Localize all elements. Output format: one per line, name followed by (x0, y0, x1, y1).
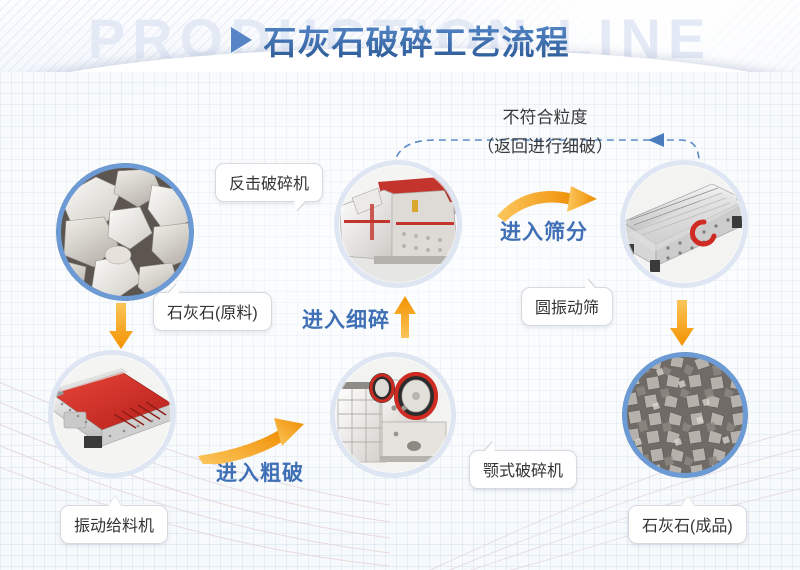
step-to-fine-label: 进入细碎 (302, 304, 390, 334)
callout-tail (168, 284, 179, 294)
jaw-crusher-circle (330, 352, 456, 478)
raw-material-ring (56, 163, 194, 301)
impact-crusher-ring (334, 160, 462, 288)
finished-product-circle (622, 352, 748, 478)
label-vibrating-screen[interactable]: 圆振动筛 (521, 287, 613, 326)
label-jaw-crusher[interactable]: 颚式破碎机 (469, 450, 577, 489)
vibrating-feeder-ring (48, 350, 176, 478)
node-vibrating-feeder[interactable] (48, 350, 176, 478)
node-raw-material[interactable] (56, 163, 194, 301)
node-impact-crusher[interactable] (334, 160, 462, 288)
label-raw-material[interactable]: 石灰石(原料) (153, 292, 272, 331)
label-vibrating-feeder[interactable]: 振动给料机 (60, 505, 168, 544)
label-text: 颚式破碎机 (483, 463, 563, 480)
label-text: 石灰石(成品) (642, 518, 733, 535)
callout-tail (585, 279, 596, 289)
vibrating-screen-circle (620, 160, 748, 288)
node-jaw-crusher[interactable] (330, 352, 456, 478)
callout-tail (108, 496, 122, 507)
arrow-curved-to-coarse (196, 418, 316, 464)
impact-crusher-circle (334, 160, 462, 288)
node-vibrating-screen[interactable] (620, 160, 748, 288)
label-text: 石灰石(原料) (167, 305, 258, 322)
return-label-line2: （返回进行细破） (430, 132, 660, 157)
return-label-line1: 不符合粒度 (430, 103, 660, 128)
label-text: 振动给料机 (74, 518, 154, 535)
play-triangle-icon (231, 27, 252, 53)
arrow-curved-to-screening (495, 186, 605, 228)
page-title-bar: 石灰石破碎工艺流程 (0, 16, 800, 64)
label-impact-crusher[interactable]: 反击破碎机 (215, 163, 323, 202)
callout-tail (294, 200, 306, 211)
callout-tail (484, 442, 495, 452)
label-finished-product[interactable]: 石灰石(成品) (628, 505, 747, 544)
finished-product-ring (622, 352, 748, 478)
raw-material-circle (56, 163, 194, 301)
page-title: 石灰石破碎工艺流程 (264, 16, 570, 64)
vibrating-feeder-circle (48, 350, 176, 478)
process-flow-diagram: PRODUCTION LINE 石灰石破碎工艺流程 不符合粒度 （返回进行细破） (0, 0, 800, 570)
vibrating-screen-ring (620, 160, 748, 288)
callout-tail (681, 496, 695, 507)
label-text: 反击破碎机 (229, 176, 309, 193)
arrow-screen-to-product (667, 300, 697, 348)
node-finished-product[interactable] (622, 352, 748, 478)
label-text: 圆振动筛 (535, 300, 599, 317)
jaw-crusher-ring (330, 352, 456, 478)
arrow-up-to-fine (392, 296, 418, 340)
arrow-raw-to-feeder (106, 303, 136, 351)
